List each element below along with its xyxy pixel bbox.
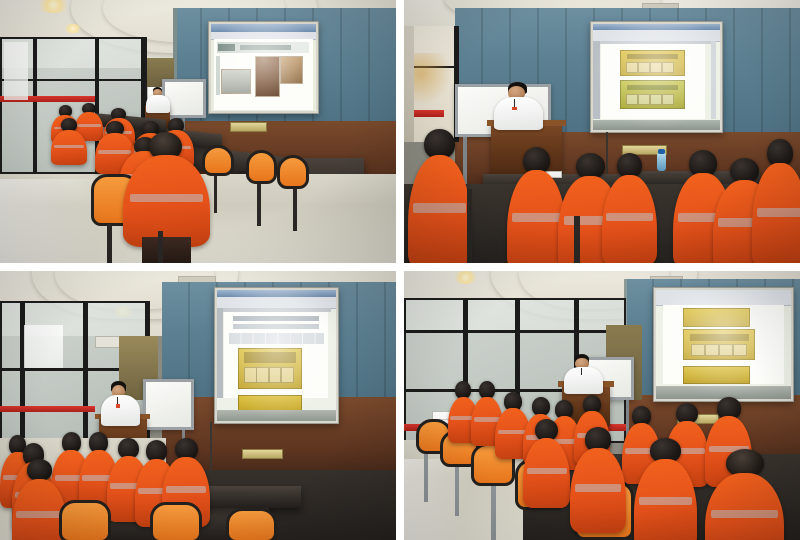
ceiling-light-2 — [63, 24, 83, 33]
screen-glare — [593, 24, 720, 130]
gutter-horizontal — [0, 263, 800, 271]
attendee — [408, 129, 471, 263]
attendee-torso — [602, 175, 657, 263]
projected-document — [593, 24, 720, 130]
projector-screen — [590, 21, 723, 133]
chair-leg-3 — [293, 189, 297, 231]
mullion-vertical-2 — [83, 301, 88, 441]
attendee — [752, 139, 800, 263]
speaker-shirt — [146, 95, 170, 113]
mullion-vertical-1 — [20, 301, 25, 441]
chair-frame-2 — [455, 467, 459, 515]
projector-screen — [653, 287, 794, 402]
wall-plaque — [242, 449, 284, 459]
chair-frame — [467, 189, 472, 263]
chair-leg-1 — [214, 176, 217, 213]
wall-plaque — [230, 122, 268, 132]
photo-top-right[interactable]: View from behind the trainees, instructo… — [404, 0, 800, 263]
water-bottle — [657, 153, 666, 171]
doorway — [404, 26, 414, 142]
speaker-shirt — [101, 395, 140, 426]
speaker-badge — [116, 404, 120, 407]
projected-document — [656, 290, 791, 399]
attendee-torso — [705, 473, 784, 540]
floor-cable — [206, 492, 254, 495]
projector-screen — [208, 21, 319, 114]
red-banner — [0, 406, 95, 413]
bottle-cap — [658, 149, 665, 154]
chair-back-1 — [59, 500, 110, 540]
whiteboard — [143, 379, 194, 430]
screen-glare — [211, 24, 316, 111]
attendee-torso — [523, 438, 571, 509]
chair-frame — [574, 216, 580, 263]
attendee-legs — [142, 237, 191, 263]
speaker-shirt — [564, 367, 603, 393]
projector-screen — [214, 287, 339, 424]
mullion-horizontal-upper — [404, 330, 626, 333]
attendee-torso — [51, 130, 87, 166]
chair-frame-1 — [424, 454, 428, 502]
attendee — [570, 427, 625, 529]
photo-collage: Wide view of the training room from the … — [0, 0, 800, 540]
projected-image — [211, 24, 316, 111]
speaker-badge — [512, 107, 517, 111]
attendee — [602, 153, 657, 263]
attendee-foreground — [123, 132, 210, 264]
attendee — [507, 147, 566, 263]
mullion-vertical-1 — [33, 37, 37, 174]
attendee-torso — [752, 163, 800, 263]
chair-back-3 — [277, 155, 309, 189]
attendee — [634, 438, 697, 540]
chair-leg-front — [107, 224, 112, 263]
chair-leg-front-2 — [158, 231, 163, 263]
chair-back-3 — [226, 508, 277, 540]
projected-document — [217, 290, 336, 421]
photo-top-left[interactable]: Wide view of the training room from the … — [0, 0, 396, 263]
screen-glare — [656, 290, 791, 399]
chair-frame-3 — [491, 486, 496, 540]
attendee-torso — [570, 448, 625, 533]
screen-glare — [217, 290, 336, 421]
speaker — [491, 82, 546, 129]
photo-bottom-left[interactable]: Side view showing the instructor at the … — [0, 271, 396, 540]
attendee-foreground — [705, 449, 784, 540]
speaker — [562, 354, 606, 392]
attendee-torso — [507, 170, 566, 263]
chair-back-2 — [246, 150, 278, 184]
window-light — [24, 325, 64, 368]
chair-back-2 — [150, 502, 201, 540]
attendee — [523, 419, 571, 505]
speaker-shirt — [494, 97, 543, 130]
photo-bottom-right[interactable]: Rear view of the full class of trainees … — [404, 271, 800, 540]
attendee-torso — [634, 459, 697, 540]
attendee-head — [27, 459, 53, 481]
speaker — [99, 381, 143, 424]
speaker — [143, 87, 175, 113]
attendee-torso — [123, 155, 210, 247]
chair-leg-2 — [257, 184, 261, 226]
window-light — [4, 42, 28, 100]
attendee-torso — [408, 155, 471, 263]
speaker-lanyard — [581, 368, 582, 374]
mural-branch — [408, 53, 452, 106]
attendee — [51, 118, 87, 163]
